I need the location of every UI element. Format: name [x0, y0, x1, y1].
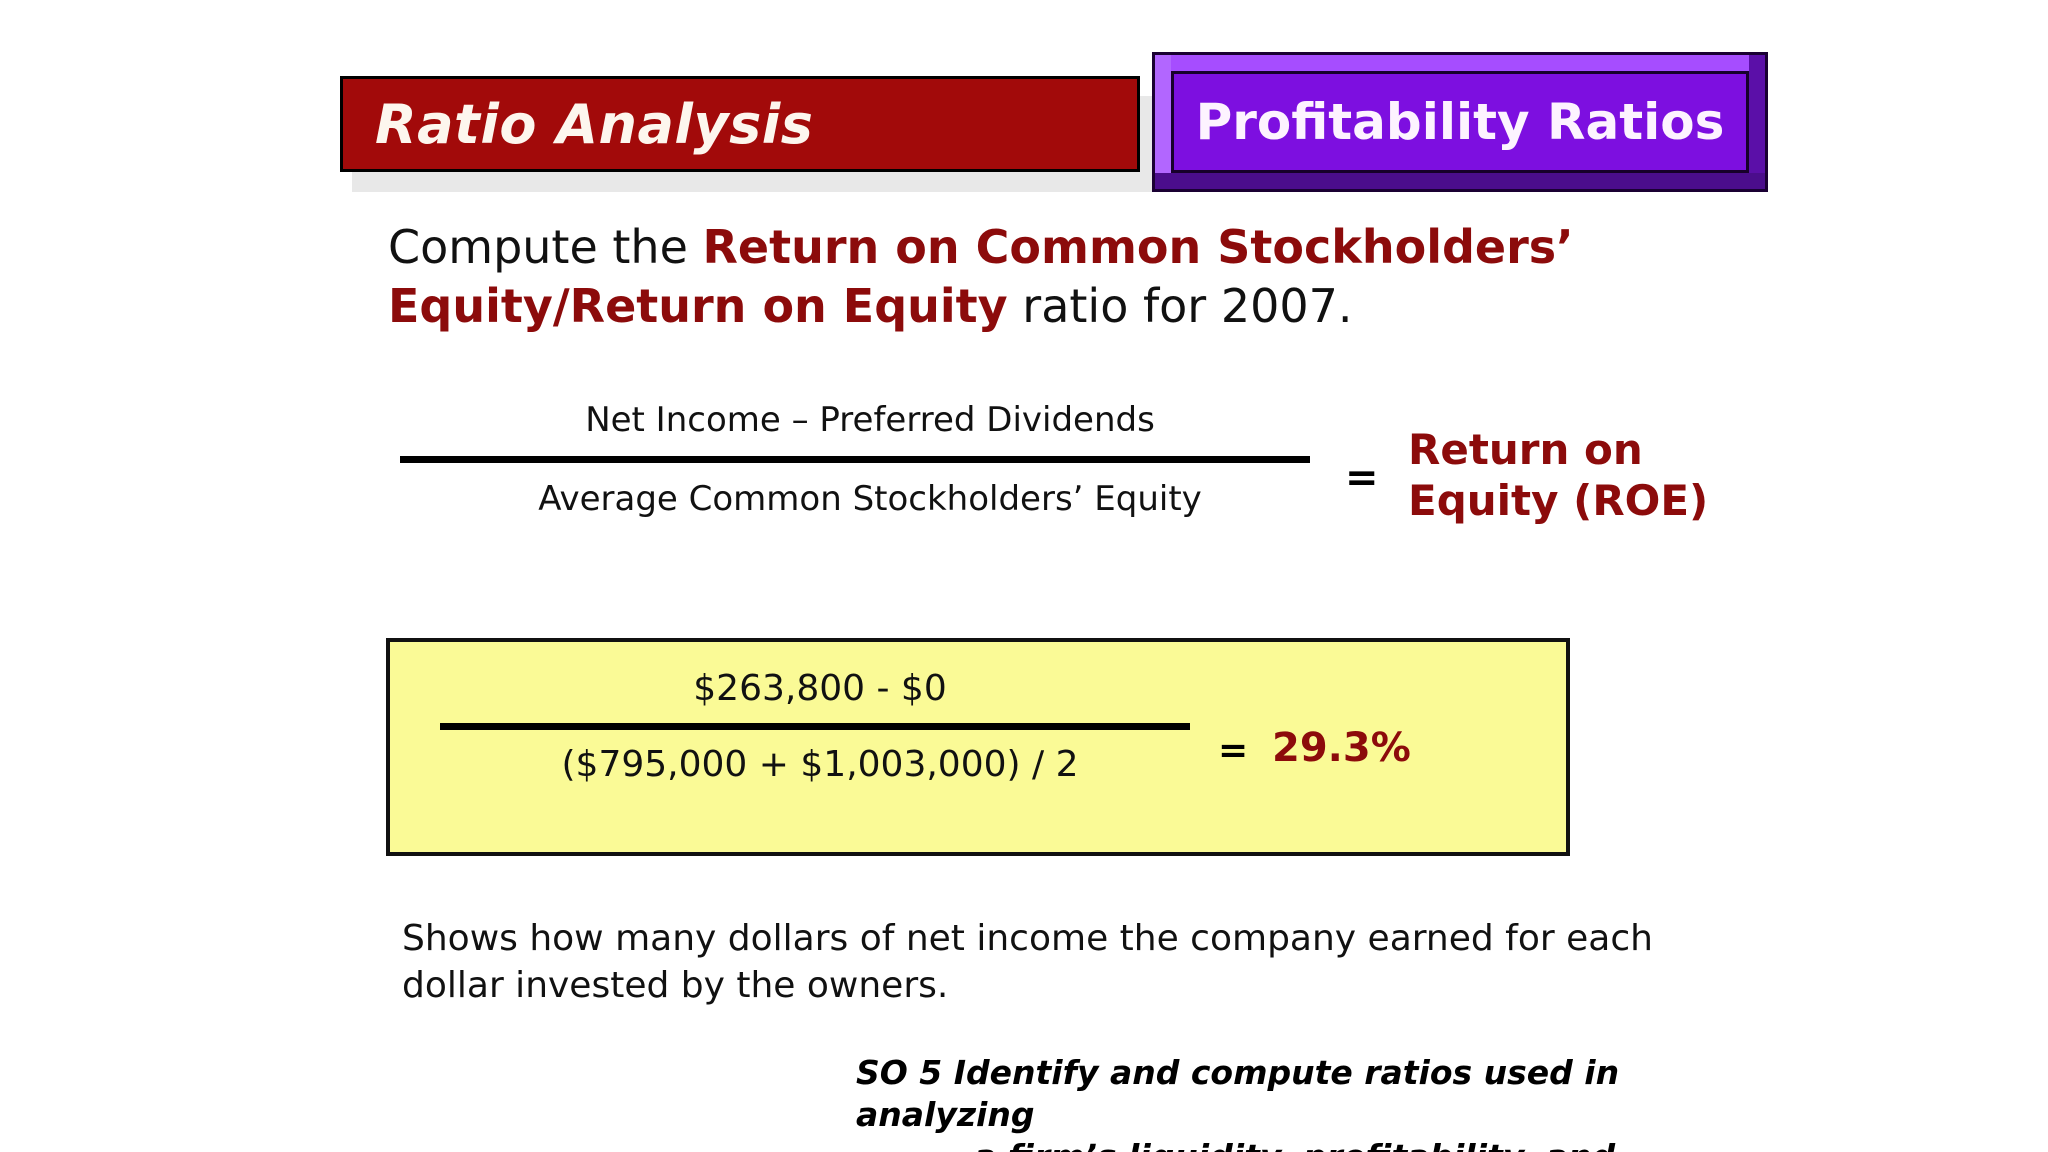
formula-result-line2: Equity (ROE) — [1408, 476, 1708, 525]
calculation-box: $263,800 - $0 ($795,000 + $1,003,000) / … — [386, 638, 1570, 856]
ratio-analysis-title: Ratio Analysis — [343, 93, 813, 156]
slide-canvas: Ratio Analysis Profitability Ratios Comp… — [0, 0, 2048, 1152]
calculation-fraction-bar — [440, 723, 1190, 730]
profitability-ratios-banner: Profitability Ratios — [1152, 52, 1768, 192]
learning-objective-line2: a firm’s liquidity, profitability, and s… — [856, 1136, 1776, 1152]
formula-result-label: Return on Equity (ROE) — [1408, 424, 1708, 526]
formula-denominator: Average Common Stockholders’ Equity — [400, 463, 1340, 519]
bevel-bottom — [1155, 173, 1765, 189]
formula-equals-sign: = — [1345, 455, 1379, 501]
calculation-fraction: $263,800 - $0 ($795,000 + $1,003,000) / … — [440, 668, 1200, 785]
ratio-analysis-banner: Ratio Analysis — [340, 76, 1140, 172]
bevel-right — [1749, 55, 1765, 189]
calculation-numerator: $263,800 - $0 — [440, 668, 1200, 723]
formula-numerator: Net Income – Preferred Dividends — [400, 400, 1340, 456]
ratio-formula: Net Income – Preferred Dividends Average… — [400, 400, 1340, 519]
calculation-equals-sign: = — [1218, 730, 1248, 771]
prompt-lead: Compute the — [388, 220, 703, 274]
formula-result-line1: Return on — [1408, 425, 1643, 474]
bevel-left — [1155, 55, 1171, 189]
prompt-tail: ratio for 2007. — [1008, 279, 1353, 333]
learning-objective-line1: SO 5 Identify and compute ratios used in… — [856, 1052, 1776, 1136]
prompt-text: Compute the Return on Common Stockholder… — [388, 218, 1668, 336]
learning-objective: SO 5 Identify and compute ratios used in… — [856, 1052, 1776, 1152]
profitability-ratios-title: Profitability Ratios — [1196, 93, 1725, 151]
calculation-result: 29.3% — [1272, 725, 1411, 771]
calculation-denominator: ($795,000 + $1,003,000) / 2 — [440, 730, 1200, 785]
profitability-ratios-inner: Profitability Ratios — [1171, 71, 1749, 173]
bevel-top — [1155, 55, 1765, 71]
explanation-text: Shows how many dollars of net income the… — [402, 916, 1672, 1010]
formula-fraction-bar — [400, 456, 1310, 463]
